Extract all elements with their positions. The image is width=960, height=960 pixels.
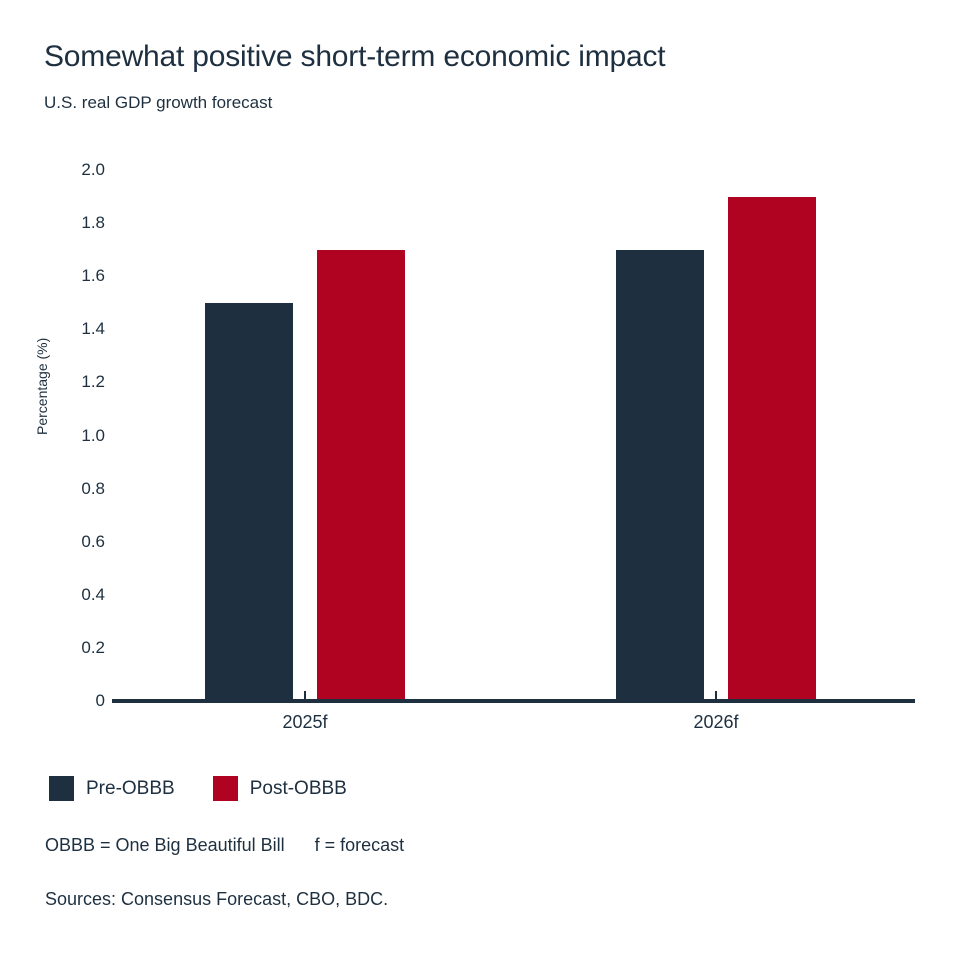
- bar-pre-obbb-2026f: [616, 250, 704, 701]
- x-axis-category-label: 2025f: [282, 712, 327, 733]
- legend-label: Pre-OBBB: [86, 778, 175, 800]
- bar-post-obbb-2025f: [317, 250, 405, 701]
- bar-post-obbb-2026f: [728, 197, 816, 701]
- x-axis-category-label: 2026f: [693, 712, 738, 733]
- plot-area: Percentage (%) 00.20.40.60.81.01.21.41.6…: [0, 0, 960, 760]
- footnote-definitions: OBBB = One Big Beautiful Bill f = foreca…: [45, 835, 404, 856]
- bars-layer: [0, 0, 960, 701]
- legend-item-pre-obbb[interactable]: Pre-OBBB: [49, 776, 175, 801]
- footnote-sources: Sources: Consensus Forecast, CBO, BDC.: [45, 889, 388, 910]
- chart-legend: Pre-OBBBPost-OBBB: [49, 776, 385, 801]
- legend-swatch-icon: [49, 776, 74, 801]
- x-axis-tick-mark: [715, 691, 717, 701]
- x-axis-line: [112, 699, 915, 703]
- bar-pre-obbb-2025f: [205, 303, 293, 701]
- legend-label: Post-OBBB: [250, 778, 347, 800]
- x-axis-tick-mark: [304, 691, 306, 701]
- legend-item-post-obbb[interactable]: Post-OBBB: [213, 776, 347, 801]
- legend-swatch-icon: [213, 776, 238, 801]
